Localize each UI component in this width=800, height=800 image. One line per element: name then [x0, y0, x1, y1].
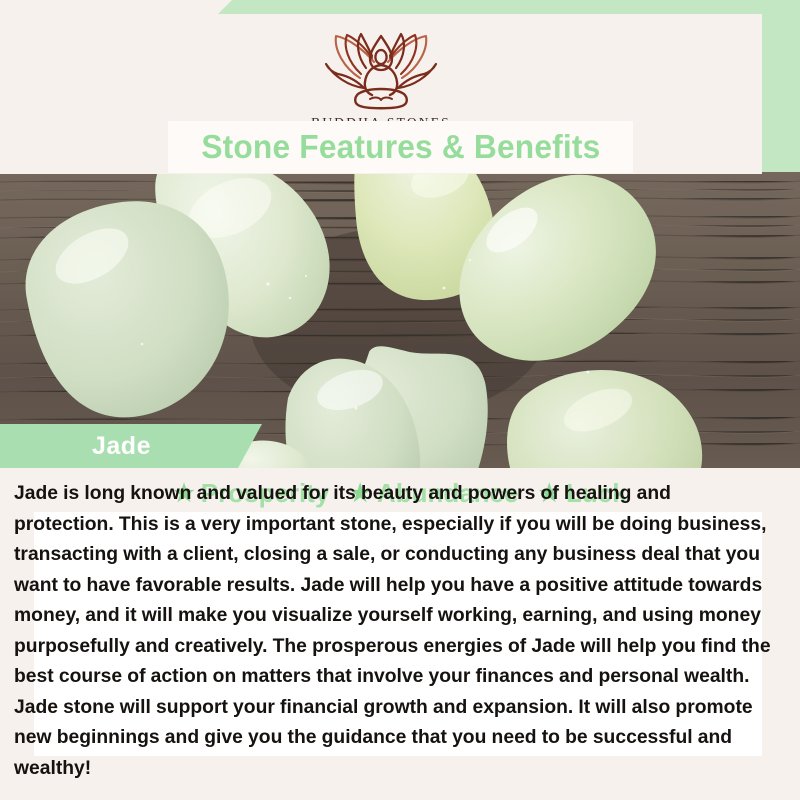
jade-stones-photo: [0, 172, 800, 468]
stone-name-badge: Jade: [0, 424, 262, 468]
lotus-meditation-icon: [320, 32, 442, 110]
page-title: Stone Features & Benefits: [201, 128, 600, 166]
page-title-box: Stone Features & Benefits: [168, 121, 633, 173]
stone-description: Jade is long known and valued for its be…: [14, 478, 774, 783]
stone-name-label: Jade: [92, 432, 151, 461]
infographic-card: BUDDHA STONES Stone Features & Benefits: [0, 0, 800, 800]
brand-logo: BUDDHA STONES: [311, 32, 451, 131]
